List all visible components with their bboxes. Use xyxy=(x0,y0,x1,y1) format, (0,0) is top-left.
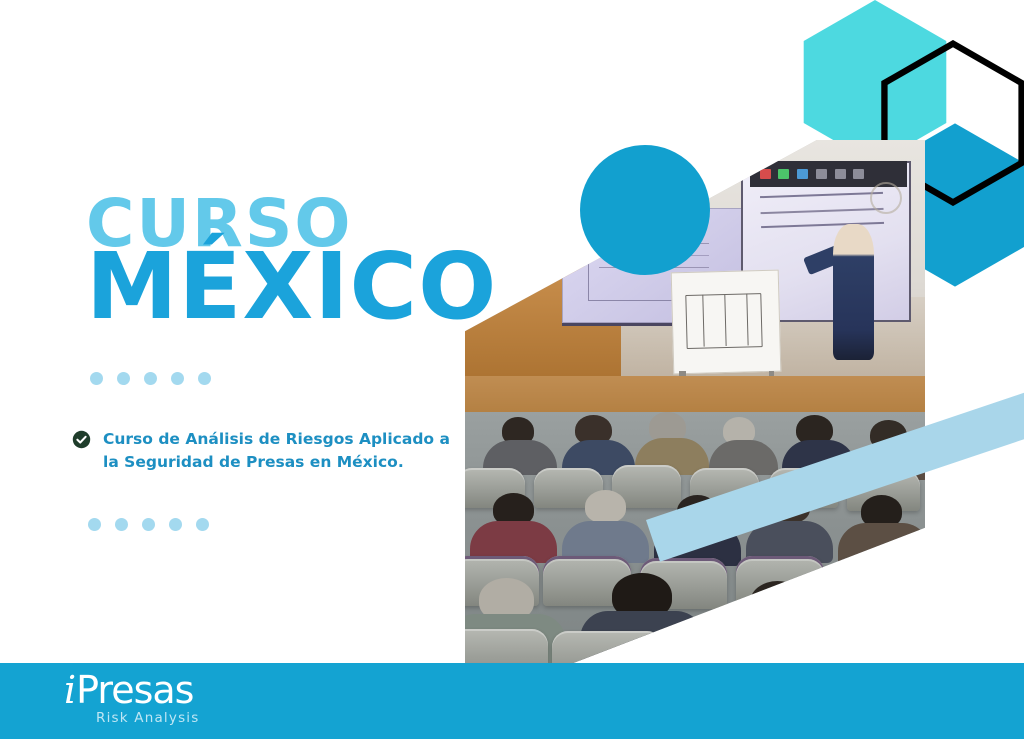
dot xyxy=(196,518,209,531)
dot xyxy=(171,372,184,385)
photo-seat xyxy=(672,629,782,664)
footer-bar: iPresas Risk Analysis xyxy=(0,663,1024,739)
dot xyxy=(142,518,155,531)
photo-seat xyxy=(833,558,925,608)
photo-person-torso xyxy=(851,614,925,664)
photo-person-head xyxy=(585,490,626,523)
photo-presenter xyxy=(833,224,874,360)
page-title: CURSO MÉXICO xyxy=(86,196,497,326)
logo-tagline: Risk Analysis xyxy=(96,710,200,726)
photo-person-head xyxy=(750,581,805,624)
course-bullet-text: Curso de Análisis de Riesgos Aplicado a … xyxy=(103,428,452,475)
logo-i-glyph: i xyxy=(64,668,76,712)
photo-whiteboard xyxy=(671,270,781,374)
course-bullet-item: Curso de Análisis de Riesgos Aplicado a … xyxy=(72,428,452,475)
decorative-circle xyxy=(580,145,710,275)
slide-canvas: CURSO MÉXICO Curso de Análisis de Riesgo… xyxy=(0,0,1024,739)
hexagon-turquoise-icon xyxy=(803,0,947,164)
dot xyxy=(117,372,130,385)
photo-seat xyxy=(465,629,548,664)
dot xyxy=(115,518,128,531)
decorative-dot-row-bottom xyxy=(88,518,209,531)
photo-wall-emblem xyxy=(870,182,902,214)
ipresas-logo: iPresas Risk Analysis xyxy=(64,671,200,726)
dot xyxy=(144,372,157,385)
logo-name: Presas xyxy=(76,668,193,712)
logo-wordmark: iPresas xyxy=(64,671,200,709)
photo-person-torso xyxy=(723,616,843,664)
dot xyxy=(90,372,103,385)
dot xyxy=(88,518,101,531)
photo-person-head xyxy=(870,576,925,621)
dot xyxy=(169,518,182,531)
page-title-line2: MÉXICO xyxy=(86,247,497,326)
check-circle-icon xyxy=(72,430,91,449)
photo-seat xyxy=(792,631,902,664)
photo-seat xyxy=(552,631,662,664)
dot xyxy=(198,372,211,385)
decorative-dot-row-top xyxy=(90,372,211,385)
photo-person-torso xyxy=(838,523,925,566)
